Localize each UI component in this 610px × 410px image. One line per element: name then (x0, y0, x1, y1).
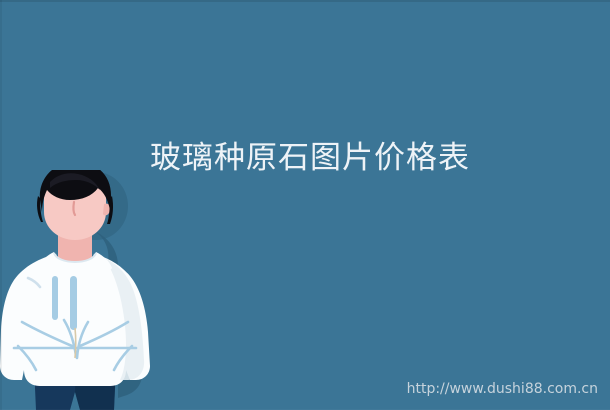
watermark-url: http://www.dushi88.com.cn (407, 381, 598, 397)
pocket-center-line (75, 328, 76, 358)
image-canvas: 玻璃种原石图片价格表 http://www.dushi88.com.cn (0, 0, 610, 410)
page-title: 玻璃种原石图片价格表 (150, 139, 480, 177)
person-illustration (0, 170, 150, 410)
hoodie (0, 252, 150, 386)
